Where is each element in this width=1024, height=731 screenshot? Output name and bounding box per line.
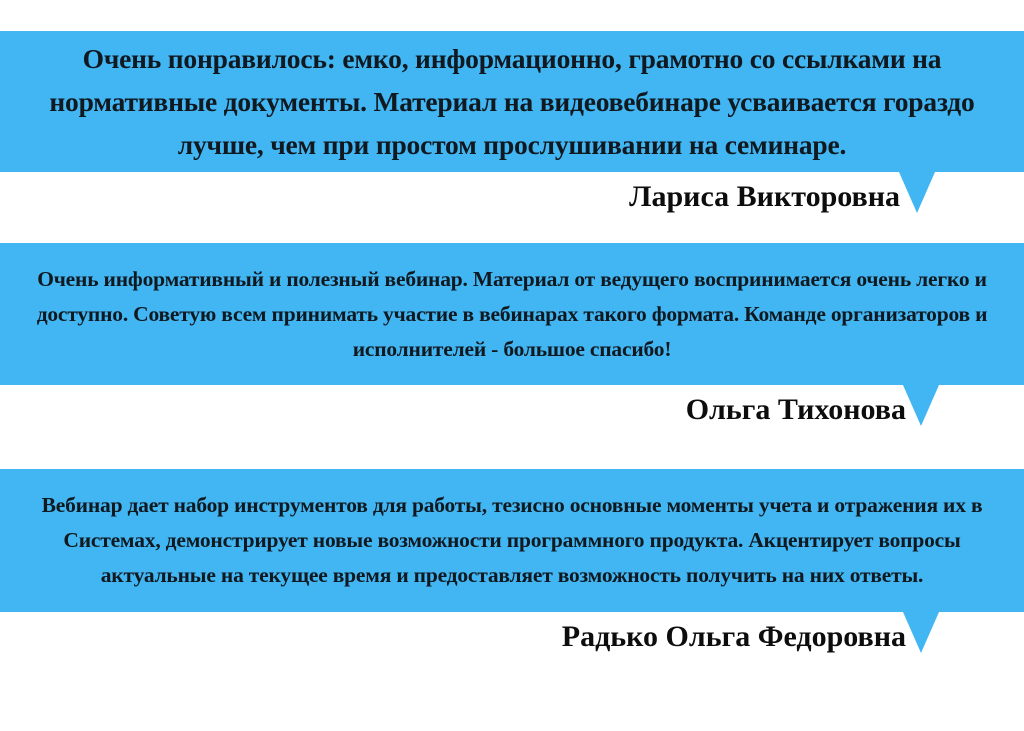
quote-panel-2: Очень информативный и полезный вебинар. …	[0, 243, 1024, 385]
quote-panel-1: Очень понравилось: емко, информационно, …	[0, 31, 1024, 172]
quote-text-1: Очень понравилось: емко, информационно, …	[14, 37, 1010, 166]
quote-panel-3: Вебинар дает набор инструментов для рабо…	[0, 469, 1024, 612]
testimonial-card-2: Очень информативный и полезный вебинар. …	[0, 243, 1024, 433]
quote-text-2: Очень информативный и полезный вебинар. …	[24, 262, 1000, 367]
testimonials-slide: Очень понравилось: емко, информационно, …	[0, 0, 1024, 731]
author-name-3: Радько Ольга Федоровна	[562, 620, 906, 653]
testimonial-card-1: Очень понравилось: емко, информационно, …	[0, 31, 1024, 220]
author-name-2: Ольга Тихонова	[686, 393, 906, 426]
author-row-1: Лариса Викторовна	[0, 172, 1024, 220]
author-name-1: Лариса Викторовна	[629, 180, 900, 213]
author-row-3: Радько Ольга Федоровна	[0, 612, 1024, 660]
quote-text-3: Вебинар дает набор инструментов для рабо…	[24, 488, 1000, 593]
author-row-2: Ольга Тихонова	[0, 385, 1024, 433]
testimonial-card-3: Вебинар дает набор инструментов для рабо…	[0, 469, 1024, 660]
